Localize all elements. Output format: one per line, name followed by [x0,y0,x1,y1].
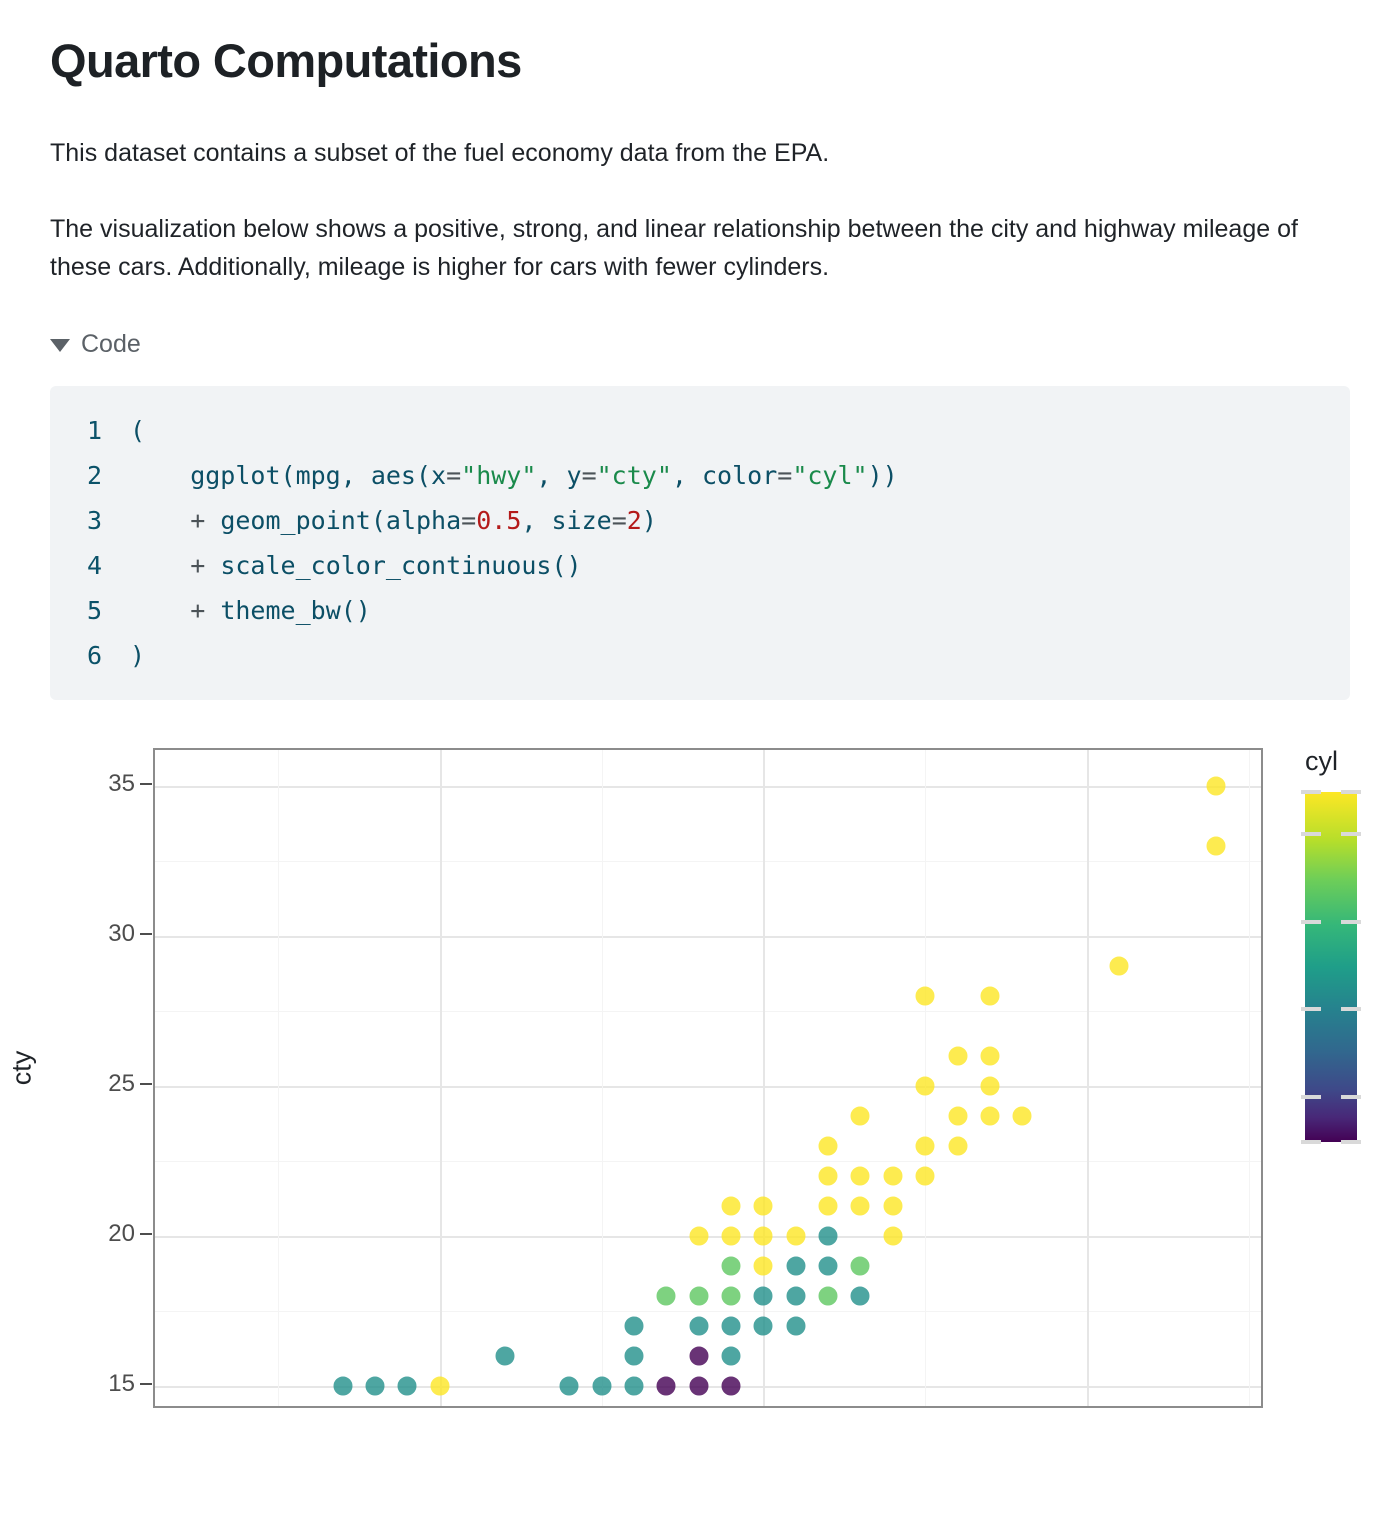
data-point [689,1347,708,1366]
data-point [754,1197,773,1216]
data-point [657,1377,676,1396]
data-point [819,1167,838,1186]
data-point [786,1227,805,1246]
colorbar-tick [1341,832,1361,836]
data-point [851,1197,870,1216]
data-point [948,1137,967,1156]
y-tick-label: 20 [75,1220,135,1248]
data-point [689,1287,708,1306]
colorbar-tick [1301,1007,1321,1011]
code-line: 4 + scale_color_continuous() [50,543,1350,588]
data-point [754,1317,773,1336]
data-point [1207,837,1226,856]
code-line-content: ( [130,408,145,453]
data-point [722,1227,741,1246]
legend-colorbar [1305,792,1357,1142]
data-point [689,1227,708,1246]
code-line-content: + geom_point(alpha=0.5, size=2) [130,498,657,543]
data-point [980,1047,999,1066]
caret-down-icon [50,339,70,352]
gridline-major-horizontal [155,936,1261,938]
data-point [883,1227,902,1246]
data-point [430,1377,449,1396]
data-point [624,1377,643,1396]
data-point [883,1167,902,1186]
data-point [592,1377,611,1396]
code-line-content: + theme_bw() [130,588,371,633]
code-line-number: 3 [50,498,130,543]
code-line-number: 1 [50,408,130,453]
data-point [786,1317,805,1336]
gridline-major-horizontal [155,786,1261,788]
data-point [948,1047,967,1066]
colorbar-tick [1301,832,1321,836]
data-point [722,1377,741,1396]
gridline-minor-horizontal [155,1161,1261,1162]
data-point [851,1257,870,1276]
colorbar-tick [1301,920,1321,924]
data-point [398,1377,417,1396]
data-point [560,1377,579,1396]
legend-title: cyl [1305,748,1400,775]
gridline-minor-horizontal [155,861,1261,862]
colorbar-tick [1341,1095,1361,1099]
gridline-minor-vertical [1249,750,1250,1406]
data-point [722,1257,741,1276]
data-point [851,1287,870,1306]
data-point [916,1167,935,1186]
gridline-minor-vertical [602,750,603,1406]
legend: cyl [1305,748,1400,1142]
data-point [1013,1107,1032,1126]
colorbar-tick [1341,790,1361,794]
gridline-major-horizontal [155,1086,1261,1088]
code-fold-toggle[interactable]: Code [50,330,141,359]
gridline-minor-vertical [278,750,279,1406]
y-tick-label: 35 [75,770,135,798]
data-point [916,1077,935,1096]
colorbar-tick [1341,1140,1361,1144]
code-fold-label: Code [81,330,141,359]
data-point [722,1287,741,1306]
data-point [819,1197,838,1216]
gridline-minor-horizontal [155,1011,1261,1012]
data-point [916,987,935,1006]
data-point [754,1257,773,1276]
data-point [333,1377,352,1396]
data-point [980,1107,999,1126]
data-point [624,1347,643,1366]
data-point [1207,777,1226,796]
data-point [786,1257,805,1276]
intro-paragraph: This dataset contains a subset of the fu… [50,134,1340,172]
data-point [624,1317,643,1336]
page-title: Quarto Computations [50,34,1350,88]
code-line-content: + scale_color_continuous() [130,543,582,588]
code-line-number: 2 [50,453,130,498]
y-tick-mark [140,1083,152,1085]
data-point [657,1287,676,1306]
y-tick-label: 25 [75,1070,135,1098]
data-point [754,1227,773,1246]
code-line-number: 5 [50,588,130,633]
y-tick-mark [140,783,152,785]
data-point [722,1317,741,1336]
data-point [689,1377,708,1396]
data-point [980,1077,999,1096]
colorbar-tick [1341,920,1361,924]
gridline-major-vertical [440,750,442,1406]
data-point [851,1167,870,1186]
code-block[interactable]: 1(2 ggplot(mpg, aes(x="hwy", y="cty", co… [50,386,1350,700]
code-line: 1( [50,408,1350,453]
y-tick-label: 30 [75,920,135,948]
gridline-major-vertical [1087,750,1089,1406]
document-body: Quarto Computations This dataset contain… [0,34,1400,1438]
scatter-plot-figure: 1520253035 cty cyl [8,738,1400,1438]
code-line: 6) [50,633,1350,678]
data-point [851,1107,870,1126]
data-point [786,1287,805,1306]
data-point [722,1197,741,1216]
data-point [689,1317,708,1336]
y-axis-label: cty [7,1051,38,1086]
data-point [819,1137,838,1156]
data-point [980,987,999,1006]
code-fold-section: Code 1(2 ggplot(mpg, aes(x="hwy", y="cty… [50,330,1350,700]
y-tick-label: 15 [75,1370,135,1398]
y-tick-mark [140,933,152,935]
code-line-content: ggplot(mpg, aes(x="hwy", y="cty", color=… [130,453,898,498]
code-line-content: ) [130,633,145,678]
code-line-number: 4 [50,543,130,588]
data-point [883,1197,902,1216]
description-paragraph: The visualization below shows a positive… [50,210,1340,286]
data-point [366,1377,385,1396]
data-point [722,1347,741,1366]
data-point [948,1107,967,1126]
code-line: 5 + theme_bw() [50,588,1350,633]
data-point [819,1287,838,1306]
y-tick-mark [140,1233,152,1235]
data-point [495,1347,514,1366]
colorbar-tick [1301,1140,1321,1144]
gridline-major-vertical [763,750,765,1406]
data-point [754,1287,773,1306]
data-point [916,1137,935,1156]
data-point [1110,957,1129,976]
y-tick-mark [140,1383,152,1385]
code-line-number: 6 [50,633,130,678]
code-line: 2 ggplot(mpg, aes(x="hwy", y="cty", colo… [50,453,1350,498]
data-point [819,1227,838,1246]
code-line: 3 + geom_point(alpha=0.5, size=2) [50,498,1350,543]
gridline-minor-horizontal [155,1311,1261,1312]
plot-panel [153,748,1263,1408]
colorbar-tick [1301,1095,1321,1099]
colorbar-tick [1301,790,1321,794]
colorbar-tick [1341,1007,1361,1011]
data-point [819,1257,838,1276]
